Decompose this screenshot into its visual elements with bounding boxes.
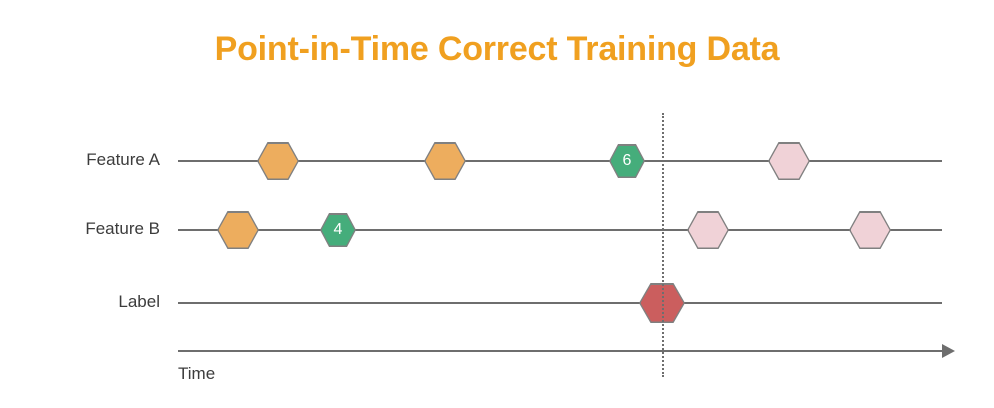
event-hexagon-orange-0 [257,142,299,180]
event-hexagon-fill [770,144,809,179]
event-hexagon-pink-6 [687,211,729,249]
event-hexagon-fill [426,144,465,179]
event-hexagon-orange-1 [424,142,466,180]
page-title: Point-in-Time Correct Training Data [0,30,994,69]
event-hexagon-orange-4 [217,211,259,249]
row-label-2: Label [0,292,160,312]
event-hexagon-fill [219,213,258,248]
time-axis-label: Time [178,364,215,384]
time-axis-arrow-icon [942,344,955,358]
event-hexagon-green-5: 4 [320,213,356,247]
event-hexagon-fill [259,144,298,179]
event-value-label: 4 [334,222,343,238]
row-label-0: Feature A [0,150,160,170]
event-hexagon-pink-7 [849,211,891,249]
point-in-time-cutoff-line [662,113,664,377]
row-label-1: Feature B [0,219,160,239]
event-hexagon-fill: 4 [322,215,355,246]
event-hexagon-fill: 6 [611,146,644,177]
row-track-2 [178,302,942,304]
event-hexagon-fill [851,213,890,248]
event-hexagon-pink-3 [768,142,810,180]
diagram-canvas: Point-in-Time Correct Training Data Feat… [0,0,994,408]
event-value-label: 6 [623,153,632,169]
time-axis-line [178,350,942,352]
row-track-1 [178,229,942,231]
event-hexagon-green-2: 6 [609,144,645,178]
event-hexagon-fill [689,213,728,248]
